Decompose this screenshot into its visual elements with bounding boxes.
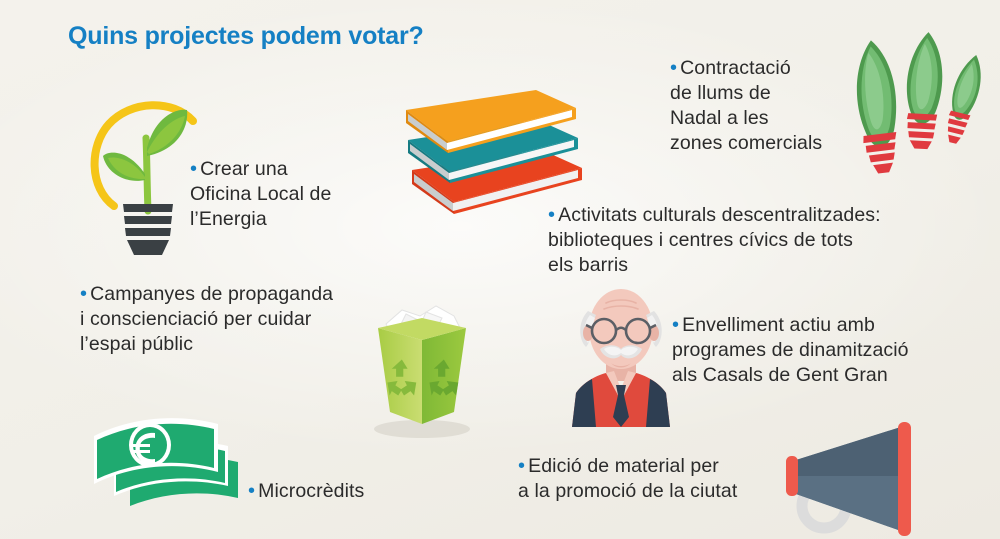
- bullet-line: biblioteques i centres cívics de tots: [548, 228, 881, 253]
- bullet-text: Crear una: [200, 158, 288, 180]
- bullet-text: Campanyes de propaganda: [90, 283, 333, 305]
- bullet-line: •Campanyes de propaganda: [80, 282, 333, 307]
- bullet-dot-icon: •: [672, 314, 679, 336]
- bullet-line: programes de dinamització: [672, 338, 909, 363]
- bullet-item-microcredits: •Microcrèdits: [248, 479, 364, 504]
- bullet-line: •Crear una: [190, 157, 331, 182]
- bullet-item-activitats-culturals: •Activitats culturals descentralitzades:…: [548, 203, 881, 278]
- bullet-line: •Activitats culturals descentralitzades:: [548, 203, 881, 228]
- bullet-line: l’Energia: [190, 207, 331, 232]
- bullet-dot-icon: •: [80, 283, 87, 305]
- bullet-text: Contractació: [680, 57, 791, 79]
- bullet-dot-icon: •: [190, 158, 197, 180]
- bullet-line: •Microcrèdits: [248, 479, 364, 504]
- elderly-man-icon: [566, 281, 676, 427]
- bullet-line: •Envelliment actiu amb: [672, 313, 909, 338]
- bullet-dot-icon: •: [518, 455, 525, 477]
- bullet-line: als Casals de Gent Gran: [672, 363, 909, 388]
- bullet-line: i conscienciació per cuidar: [80, 307, 333, 332]
- bullet-item-oficina-energia: •Crear una Oficina Local de l’Energia: [190, 157, 331, 232]
- bullet-dot-icon: •: [670, 57, 677, 79]
- bullet-line: •Contractació: [670, 56, 822, 81]
- bullet-line: Oficina Local de: [190, 182, 331, 207]
- infographic-poster: Quins projectes podem votar?: [0, 0, 1000, 539]
- bullet-line: de llums de: [670, 81, 822, 106]
- bullet-line: els barris: [548, 253, 881, 278]
- megaphone-icon: [778, 418, 926, 539]
- bullet-line: zones comercials: [670, 131, 822, 156]
- bullet-line: Nadal a les: [670, 106, 822, 131]
- bullet-dot-icon: •: [248, 480, 255, 502]
- bullet-text: Microcrèdits: [258, 480, 364, 502]
- bullet-line: a la promoció de la ciutat: [518, 479, 737, 504]
- bullet-line: •Edició de material per: [518, 454, 737, 479]
- bullet-dot-icon: •: [548, 204, 555, 226]
- bullet-text: Envelliment actiu amb: [682, 314, 875, 336]
- bullet-text: Activitats culturals descentralitzades:: [558, 204, 881, 226]
- bullet-item-llums-nadal: •Contractació de llums de Nadal a les zo…: [670, 56, 822, 156]
- recycling-bin-icon: [356, 296, 486, 441]
- bullet-line: l’espai públic: [80, 332, 333, 357]
- euro-banknotes-icon: [88, 412, 248, 517]
- bullet-item-campanyes-propaganda: •Campanyes de propaganda i conscienciaci…: [80, 282, 333, 357]
- page-title: Quins projectes podem votar?: [68, 22, 424, 51]
- christmas-lights-icon: [838, 28, 998, 188]
- bullet-text: Edició de material per: [528, 455, 719, 477]
- bullet-item-edicio-material: •Edició de material per a la promoció de…: [518, 454, 737, 504]
- bullet-item-envelliment-actiu: •Envelliment actiu amb programes de dina…: [672, 313, 909, 388]
